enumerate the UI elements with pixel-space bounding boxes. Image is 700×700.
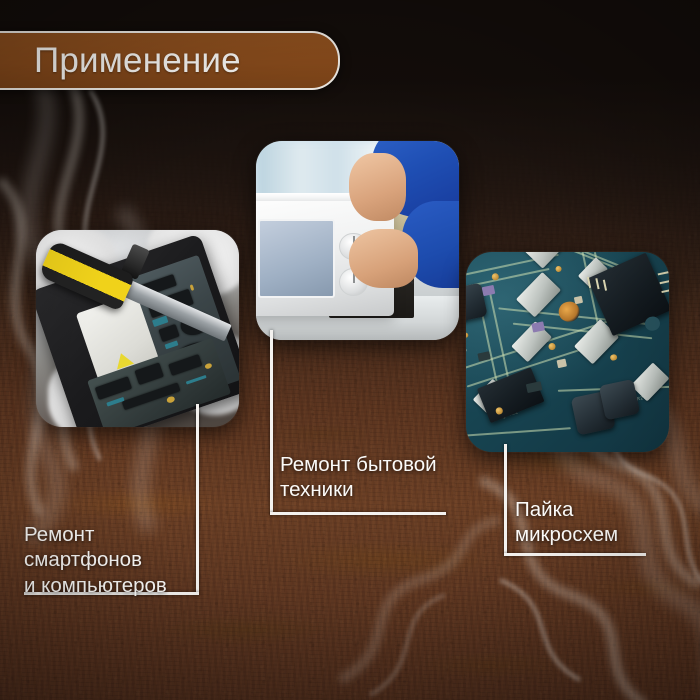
smartphone-repair-photo[interactable]	[36, 230, 239, 427]
title-banner: Применение	[0, 31, 340, 90]
circuit-board-photo[interactable]: R08 CLK2 C11 R13 D4 U2 C22 R21	[466, 252, 669, 452]
slide-canvas: Применение	[0, 0, 700, 700]
page-title: Применение	[0, 43, 241, 78]
caption-appliance-repair: Ремонт бытовой техники	[280, 452, 437, 503]
connector-line-1-vertical	[196, 404, 199, 594]
caption-chip-soldering: Пайка микросхем	[515, 497, 618, 548]
connector-line-3-bottom	[504, 553, 646, 556]
caption-smartphone-repair: Ремонт смартфонов и компьютеров	[24, 522, 167, 598]
connector-line-3-vertical	[504, 444, 507, 555]
connector-line-2-bottom	[270, 512, 446, 515]
connector-line-2-vertical	[270, 330, 273, 514]
microwave-repair-photo[interactable]	[256, 141, 459, 340]
